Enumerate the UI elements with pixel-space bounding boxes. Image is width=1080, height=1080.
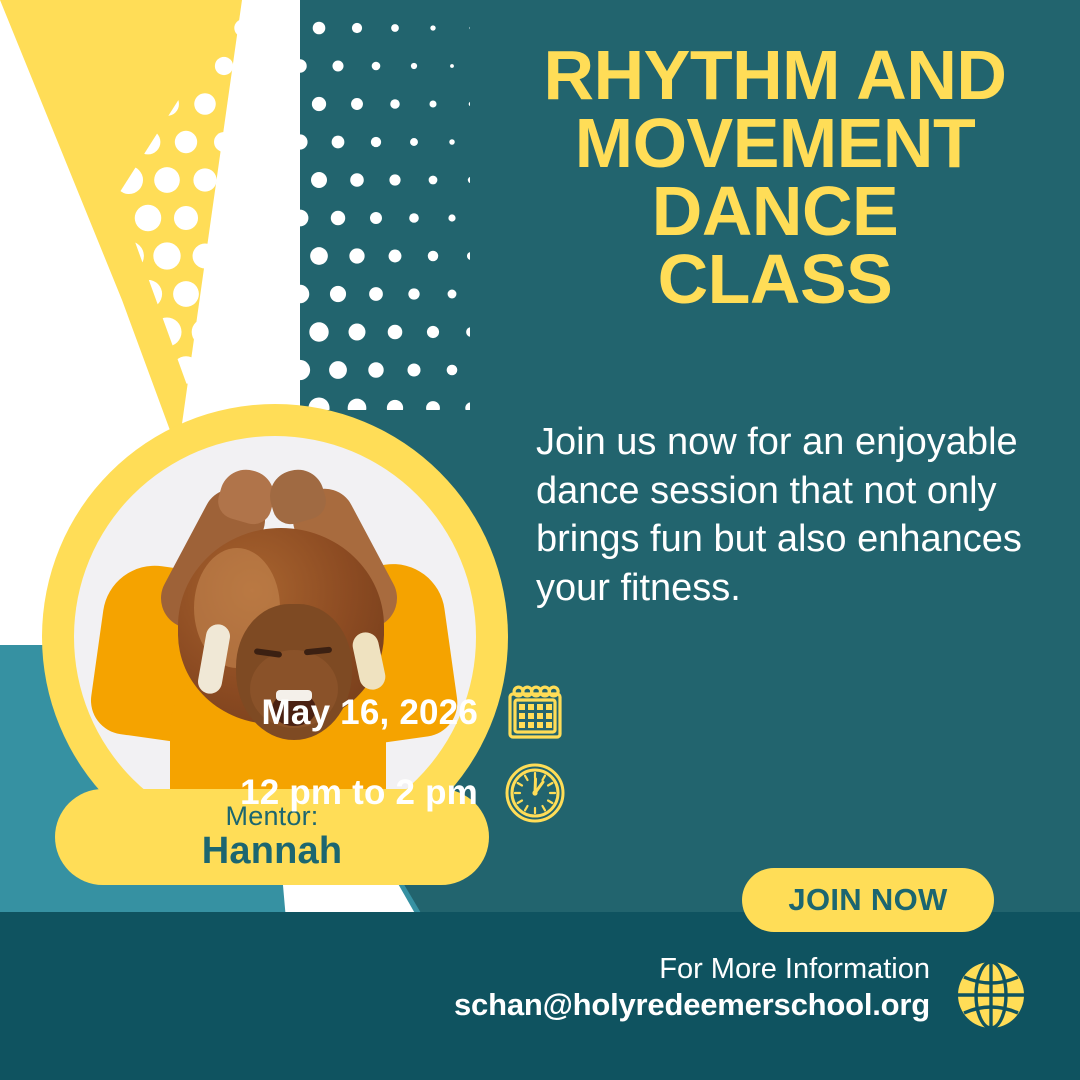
event-date: May 16, 2026 <box>262 693 478 733</box>
join-now-button[interactable]: JOIN NOW <box>742 868 994 932</box>
calendar-icon <box>500 678 570 748</box>
contact-email[interactable]: schan@holyredeemerschool.org <box>0 986 1080 1024</box>
mentor-name: Hannah <box>202 830 343 873</box>
poster-description: Join us now for an enjoyable dance sessi… <box>536 418 1076 613</box>
title-line-2: MOVEMENT <box>470 110 1080 178</box>
title-line-4: CLASS <box>470 246 1080 314</box>
clock-icon <box>500 758 570 828</box>
title-line-3: DANCE <box>470 178 1080 246</box>
poster-title: RHYTHM AND MOVEMENT DANCE CLASS <box>470 42 1080 314</box>
time-row: 12 pm to 2 pm <box>10 758 570 828</box>
event-time: 12 pm to 2 pm <box>240 773 478 813</box>
title-line-1: RHYTHM AND <box>470 42 1080 110</box>
more-info-label: For More Information <box>0 952 1080 986</box>
poster-canvas: Mentor: Hannah RHYTHM AND MOVEMENT DANCE… <box>0 0 1080 1080</box>
date-row: May 16, 2026 <box>10 678 570 748</box>
globe-icon <box>954 958 1028 1032</box>
contact-block: For More Information schan@holyredeemers… <box>0 952 1080 1024</box>
